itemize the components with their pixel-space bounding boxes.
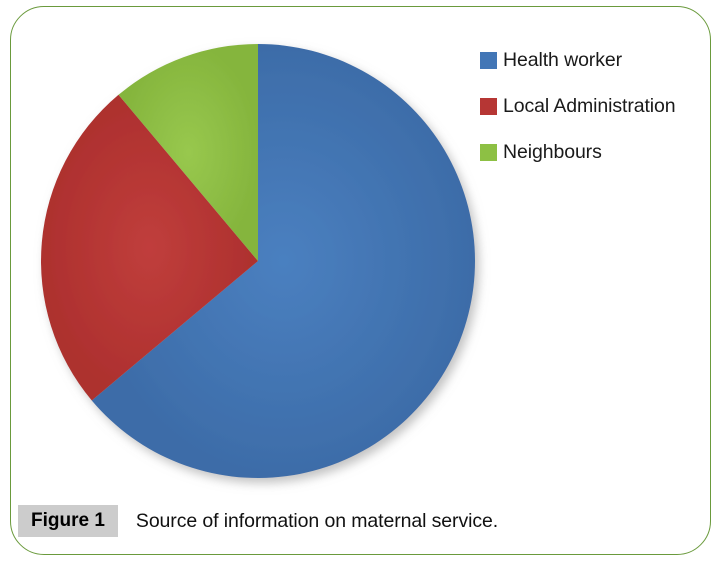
chart-legend: Health worker Local Administration Neigh…: [480, 44, 715, 182]
figure-container: Health worker Local Administration Neigh…: [0, 0, 718, 562]
legend-label-neighbours: Neighbours: [503, 136, 602, 169]
legend-label-health-worker: Health worker: [503, 44, 622, 77]
legend-item[interactable]: Neighbours: [480, 136, 715, 182]
pie-chart-area: Health worker Local Administration Neigh…: [0, 0, 718, 492]
legend-label-local-administration: Local Administration: [503, 90, 676, 123]
figure-number-badge: Figure 1: [18, 505, 118, 537]
legend-swatch-neighbours: [480, 144, 497, 161]
pie-chart-svg: [41, 44, 475, 478]
pie-slice-group: [41, 44, 475, 478]
figure-caption-text: Source of information on maternal servic…: [136, 509, 498, 533]
figure-caption: Figure 1 Source of information on matern…: [18, 500, 698, 542]
pie-chart: [41, 44, 475, 478]
legend-item[interactable]: Local Administration: [480, 90, 715, 136]
legend-swatch-health-worker: [480, 52, 497, 69]
legend-item[interactable]: Health worker: [480, 44, 715, 90]
legend-swatch-local-administration: [480, 98, 497, 115]
